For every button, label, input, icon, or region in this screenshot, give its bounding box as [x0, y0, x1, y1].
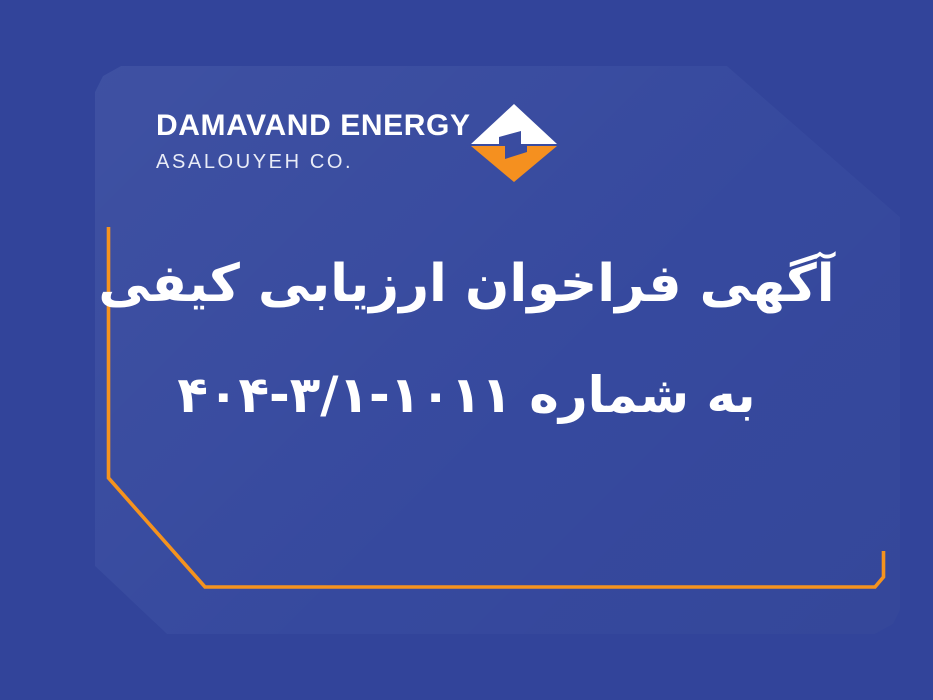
headline-line-2: به شماره ۱۰۱۱-۳/۱-۴۰۴ [0, 370, 933, 420]
logo-wordmark: DAMAVAND ENERGY ASALOUYEH CO. [156, 110, 471, 174]
company-logo: DAMAVAND ENERGY ASALOUYEH CO. [138, 102, 557, 182]
damavand-diamond-mountain-bolt-icon [471, 102, 557, 182]
headline-block: آگهی فراخوان ارزیابی کیفی به شماره ۱۰۱۱-… [0, 258, 933, 420]
brand-name: DAMAVAND ENERGY [156, 110, 471, 142]
brand-subtitle: ASALOUYEH CO. [156, 150, 353, 174]
announcement-poster: DAMAVAND ENERGY ASALOUYEH CO. آگهی فراخو… [0, 0, 933, 700]
headline-line-1: آگهی فراخوان ارزیابی کیفی [0, 258, 933, 310]
